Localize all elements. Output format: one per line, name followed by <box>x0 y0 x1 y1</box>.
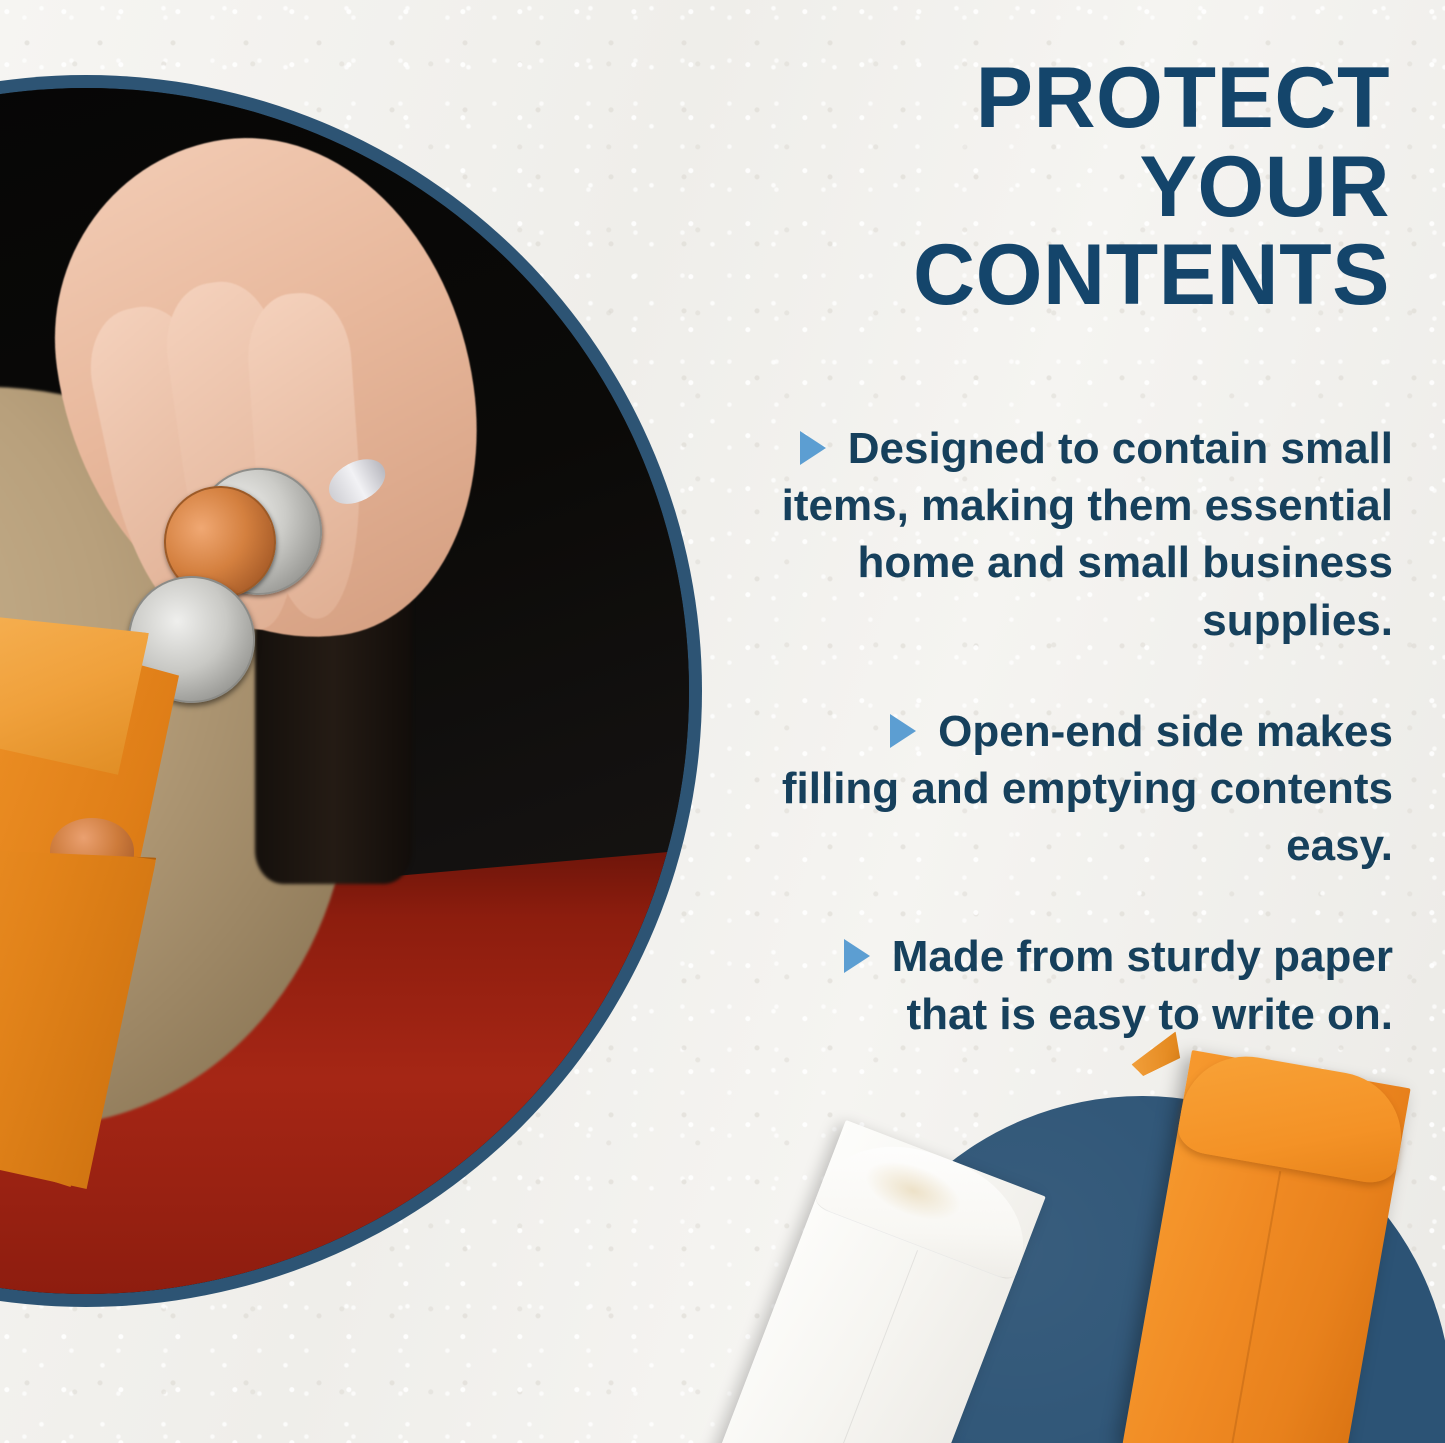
feature-bullet-1-text: Designed to contain small items, making … <box>782 424 1393 645</box>
triangle-right-icon <box>890 714 916 748</box>
photo-circle-ring <box>0 75 702 1307</box>
feature-bullet-1: Designed to contain small items, making … <box>773 420 1393 649</box>
feature-bullet-2-text: Open-end side makes filling and emptying… <box>782 707 1393 870</box>
page-title: PROTECT YOUR CONTENTS <box>750 54 1390 320</box>
feature-bullet-list: Designed to contain small items, making … <box>773 420 1393 1043</box>
headline-line-3: CONTENTS <box>750 231 1390 320</box>
feature-bullet-3: Made from sturdy paper that is easy to w… <box>773 928 1393 1042</box>
feature-bullet-3-text: Made from sturdy paper that is easy to w… <box>892 932 1393 1038</box>
triangle-right-icon <box>800 431 826 465</box>
coin-envelope-photo <box>0 88 689 1294</box>
white-envelope-seam <box>810 1250 918 1443</box>
infographic-canvas: PROTECT YOUR CONTENTS Designed to contai… <box>0 0 1445 1443</box>
feature-bullet-2: Open-end side makes filling and emptying… <box>773 703 1393 875</box>
orange-envelope-seam <box>1227 1171 1280 1443</box>
triangle-right-icon <box>844 939 870 973</box>
headline-line-2: YOUR <box>750 143 1390 232</box>
photo-circle-clip <box>0 88 689 1294</box>
headline-line-1: PROTECT <box>750 54 1390 143</box>
orange-envelope-flap <box>1175 1046 1412 1187</box>
